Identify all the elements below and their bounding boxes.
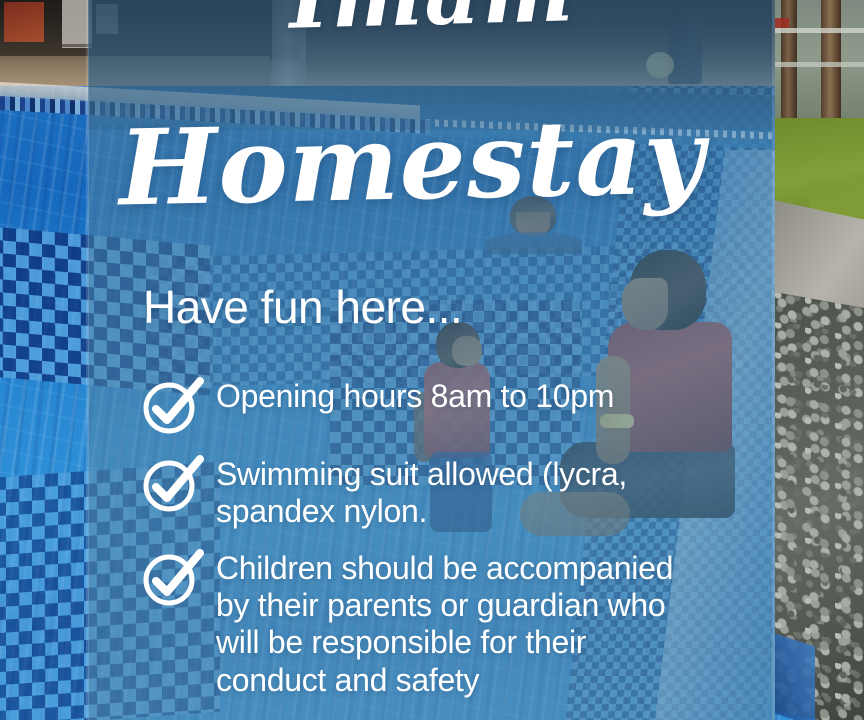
- page-title: Have fun here...: [143, 280, 462, 334]
- brand-script-line-1: Imam: [0, 0, 864, 56]
- check-circle-icon: [140, 454, 208, 514]
- rules-list: Opening hours 8am to 10pm Swimming suit …: [140, 372, 720, 713]
- list-item: Opening hours 8am to 10pm: [140, 372, 720, 436]
- list-item: Children should be accompanied by their …: [140, 544, 720, 698]
- homestay-pool-poster: Imam Homestay Have fun here... Opening h…: [0, 0, 864, 720]
- check-circle-icon: [140, 376, 208, 436]
- poster-content: Imam Homestay Have fun here... Opening h…: [0, 0, 864, 720]
- list-item-label: Children should be accompanied by their …: [216, 544, 696, 698]
- list-item-label: Opening hours 8am to 10pm: [216, 372, 614, 415]
- list-item-label: Swimming suit allowed (lycra, spandex ny…: [216, 450, 716, 530]
- check-circle-icon: [140, 548, 208, 608]
- list-item: Swimming suit allowed (lycra, spandex ny…: [140, 450, 720, 530]
- brand-script-line-2: Homestay: [0, 101, 864, 223]
